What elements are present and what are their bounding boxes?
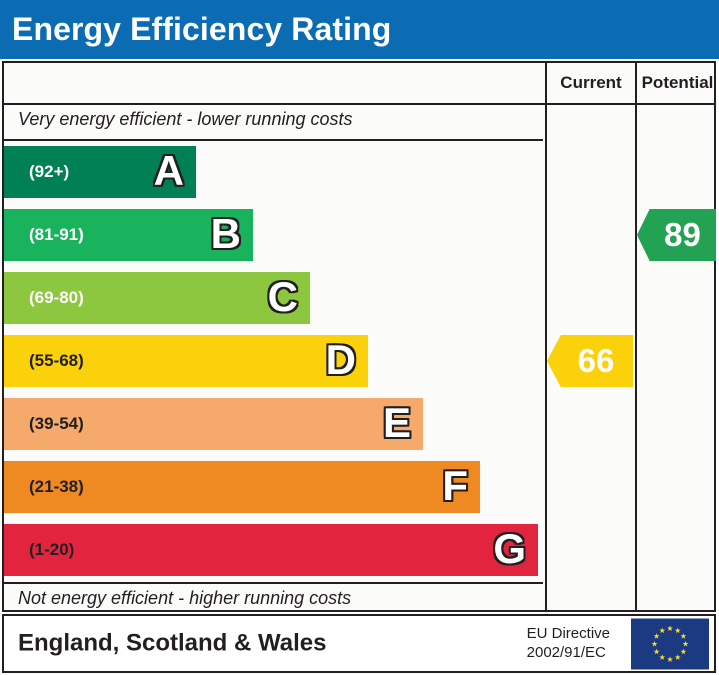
directive-line-1: EU Directive bbox=[527, 625, 610, 642]
rating-band-c: (69-80)C bbox=[4, 272, 310, 324]
rating-band-d: (55-68)D bbox=[4, 335, 368, 387]
header-row-divider bbox=[4, 103, 714, 105]
band-letter-d: D bbox=[326, 339, 356, 381]
footer-directive-label: EU Directive 2002/91/EC bbox=[527, 624, 610, 664]
band-range-e: (39-54) bbox=[29, 414, 84, 434]
band-range-g: (1-20) bbox=[29, 540, 74, 560]
band-letter-f: F bbox=[442, 465, 468, 507]
band-range-a: (92+) bbox=[29, 162, 69, 182]
footer-region-label: England, Scotland & Wales bbox=[18, 629, 326, 657]
rating-bands: (92+)A(81-91)B(69-80)C(55-68)D(39-54)E(2… bbox=[4, 141, 543, 582]
column-header-potential: Potential bbox=[637, 63, 718, 103]
eu-flag-icon bbox=[631, 618, 709, 669]
column-header-current: Current bbox=[547, 63, 635, 103]
band-letter-c: C bbox=[268, 276, 298, 318]
current-rating-marker: 66 bbox=[547, 335, 633, 387]
column-divider-current bbox=[545, 63, 547, 610]
band-letter-g: G bbox=[493, 528, 526, 570]
rating-band-g: (1-20)G bbox=[4, 524, 538, 576]
rating-band-f: (21-38)F bbox=[4, 461, 480, 513]
energy-efficiency-certificate: Energy Efficiency Rating Current Potenti… bbox=[0, 0, 719, 675]
page-title: Energy Efficiency Rating bbox=[12, 10, 391, 47]
rating-table: Current Potential Very energy efficient … bbox=[2, 61, 716, 612]
caption-efficient: Very energy efficient - lower running co… bbox=[18, 109, 353, 130]
caption-bottom-divider bbox=[4, 582, 543, 584]
rating-band-a: (92+)A bbox=[4, 146, 196, 198]
band-letter-b: B bbox=[211, 213, 241, 255]
chart-header-banner: Energy Efficiency Rating bbox=[0, 0, 719, 59]
band-letter-e: E bbox=[383, 402, 411, 444]
band-letter-a: A bbox=[154, 150, 184, 192]
band-range-c: (69-80) bbox=[29, 288, 84, 308]
rating-band-b: (81-91)B bbox=[4, 209, 253, 261]
directive-line-2: 2002/91/EC bbox=[527, 645, 606, 662]
caption-inefficient: Not energy efficient - higher running co… bbox=[18, 588, 351, 609]
band-range-d: (55-68) bbox=[29, 351, 84, 371]
certificate-footer: England, Scotland & Wales EU Directive 2… bbox=[2, 614, 716, 673]
band-range-f: (21-38) bbox=[29, 477, 84, 497]
band-range-b: (81-91) bbox=[29, 225, 84, 245]
column-divider-potential bbox=[635, 63, 637, 610]
rating-band-e: (39-54)E bbox=[4, 398, 423, 450]
potential-rating-marker: 89 bbox=[637, 209, 716, 261]
